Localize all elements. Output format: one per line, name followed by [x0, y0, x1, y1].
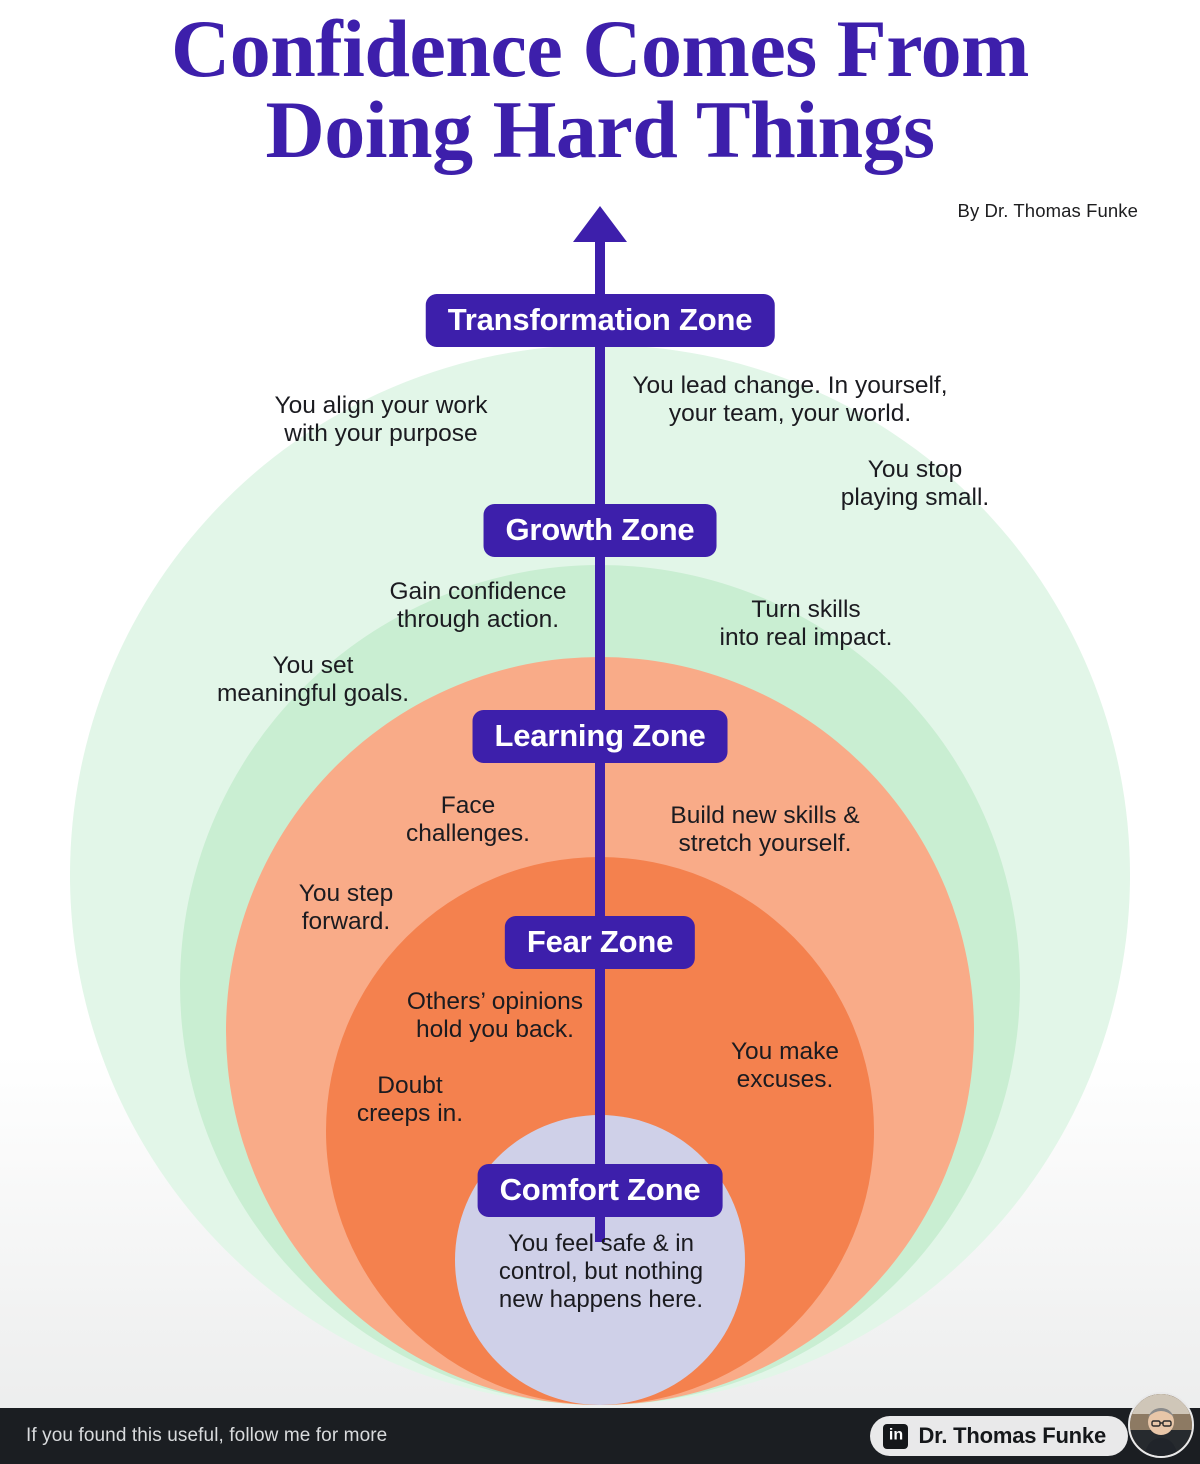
- note-stop-playing-small: You stop playing small.: [790, 456, 1040, 513]
- zone-badge-transformation[interactable]: Transformation Zone: [426, 294, 775, 347]
- note-lead-change: You lead change. In yourself, your team,…: [625, 372, 955, 429]
- zone-badge-learning[interactable]: Learning Zone: [473, 710, 728, 763]
- note-meaningful-goals: You set meaningful goals.: [200, 652, 426, 709]
- note-make-excuses: You make excuses.: [692, 1038, 878, 1095]
- footer-cta-text: If you found this useful, follow me for …: [26, 1425, 387, 1447]
- title-line-2: Doing Hard Things: [0, 89, 1200, 170]
- linkedin-profile-pill[interactable]: Dr. Thomas Funke: [870, 1416, 1128, 1456]
- page-title: Confidence Comes From Doing Hard Things: [0, 8, 1200, 170]
- note-gain-confidence: Gain confidence through action.: [368, 578, 588, 635]
- zone-badge-comfort[interactable]: Comfort Zone: [478, 1164, 723, 1217]
- note-doubt-creeps-in: Doubt creeps in.: [330, 1072, 490, 1129]
- profile-name: Dr. Thomas Funke: [918, 1423, 1106, 1449]
- note-others-opinions: Others’ opinions hold you back.: [388, 988, 602, 1045]
- infographic-poster: Confidence Comes From Doing Hard Things …: [0, 0, 1200, 1464]
- zone-badge-fear[interactable]: Fear Zone: [505, 916, 695, 969]
- zone-badge-growth[interactable]: Growth Zone: [484, 504, 717, 557]
- note-align-purpose: You align your work with your purpose: [246, 392, 516, 449]
- note-build-skills: Build new skills & stretch yourself.: [640, 802, 890, 859]
- linkedin-icon: [883, 1424, 908, 1449]
- avatar: [1128, 1392, 1194, 1458]
- footer-bar: If you found this useful, follow me for …: [0, 1408, 1200, 1464]
- note-comfort-zone-body: You feel safe & in control, but nothing …: [470, 1230, 732, 1314]
- avatar-photo: [1130, 1394, 1192, 1456]
- byline: By Dr. Thomas Funke: [958, 200, 1138, 222]
- title-line-1: Confidence Comes From: [0, 8, 1200, 89]
- note-step-forward: You step forward.: [258, 880, 434, 937]
- note-face-challenges: Face challenges.: [380, 792, 556, 849]
- note-turn-skills: Turn skills into real impact.: [672, 596, 940, 653]
